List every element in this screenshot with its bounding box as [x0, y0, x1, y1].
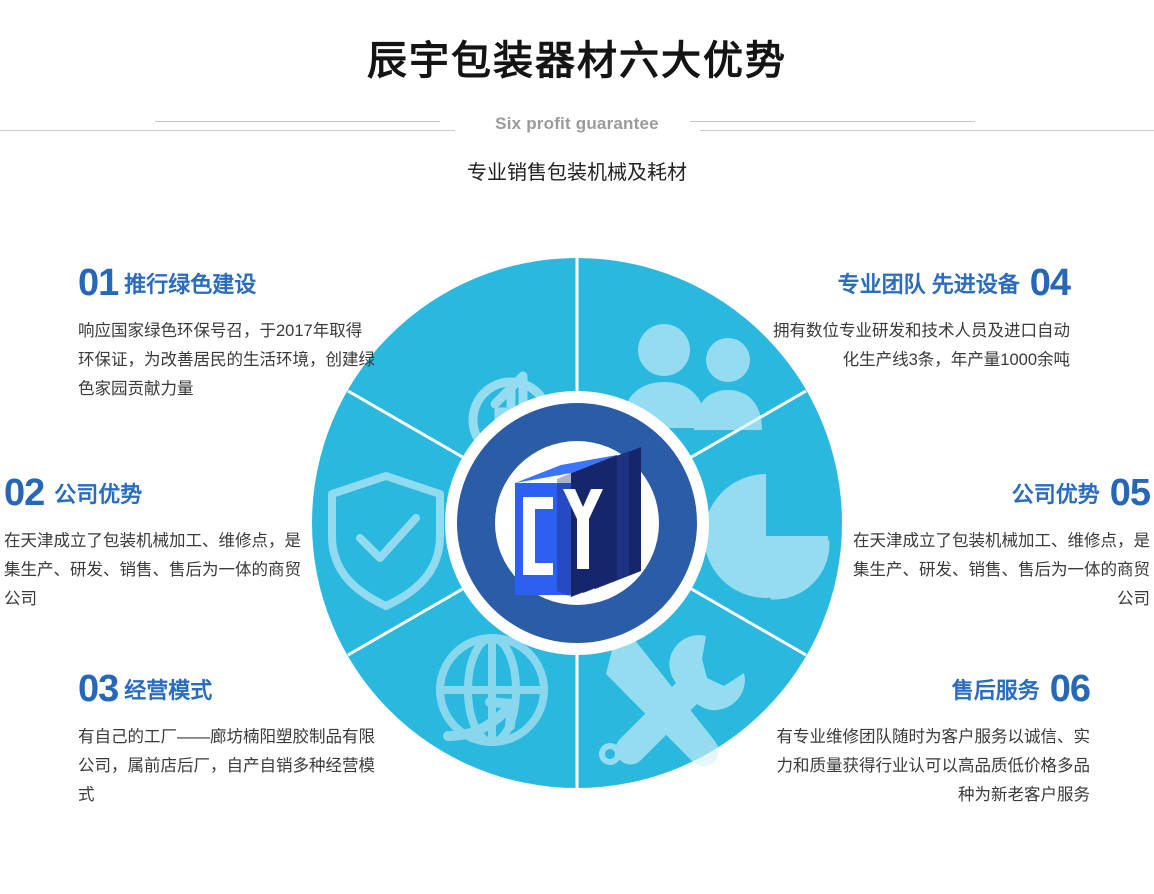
header: 辰宇包装器材六大优势 Six profit guarantee 专业销售包装机械…	[0, 0, 1154, 200]
feature-heading-05: 公司优势05	[850, 476, 1150, 515]
globe-arrow-icon	[440, 638, 544, 742]
feature-body-06: 有专业维修团队随时为客户服务以诚信、实力和质量获得行业认可以高品质低价格多品种为…	[770, 723, 1090, 810]
feature-heading-02: 02公司优势	[4, 476, 304, 515]
feature-heading-03: 03经营模式	[78, 672, 390, 711]
feature-label-05: 公司优势	[1012, 482, 1100, 507]
feature-block-01: 01推行绿色建设 响应国家绿色环保号召，于2017年取得环保证，为改善居民的生活…	[78, 266, 378, 404]
feature-heading-04: 专业团队 先进设备04	[770, 266, 1070, 305]
feature-heading-01: 01推行绿色建设	[78, 266, 378, 305]
feature-number-03: 03	[78, 668, 118, 710]
feature-number-02: 02	[4, 472, 44, 514]
feature-body-01: 响应国家绿色环保号召，于2017年取得环保证，为改善居民的生活环境，创建绿色家园…	[78, 317, 378, 404]
feature-number-05: 05	[1110, 472, 1150, 514]
feature-number-01: 01	[78, 262, 118, 304]
page-title: 辰宇包装器材六大优势	[0, 34, 1154, 88]
feature-block-03: 03经营模式 有自己的工厂——廊坊楠阳塑胶制品有限公司，属前店后厂，自产自销多种…	[78, 672, 390, 810]
subtitle-english: Six profit guarantee	[0, 114, 1154, 134]
feature-label-06: 售后服务	[952, 678, 1040, 703]
feature-body-03: 有自己的工厂——廊坊楠阳塑胶制品有限公司，属前店后厂，自产自销多种经营模式	[78, 723, 390, 810]
feature-block-05: 公司优势05 在天津成立了包装机械加工、维修点，是集生产、研发、销售、售后为一体…	[850, 476, 1150, 614]
feature-number-04: 04	[1030, 262, 1070, 304]
feature-label-04: 专业团队 先进设备	[838, 272, 1020, 297]
subtitle-english-text: Six profit guarantee	[481, 114, 673, 133]
feature-label-01: 推行绿色建设	[124, 272, 256, 297]
feature-heading-06: 售后服务06	[770, 672, 1090, 711]
feature-number-06: 06	[1050, 668, 1090, 710]
subtitle-divider: Six profit guarantee	[0, 108, 1154, 144]
feature-block-06: 售后服务06 有专业维修团队随时为客户服务以诚信、实力和质量获得行业认可以高品质…	[770, 672, 1090, 810]
feature-body-04: 拥有数位专业研发和技术人员及进口自动化生产线3条，年产量1000余吨	[770, 317, 1070, 375]
feature-body-05: 在天津成立了包装机械加工、维修点，是集生产、研发、销售、售后为一体的商贸公司	[850, 527, 1150, 614]
feature-block-02: 02公司优势 在天津成立了包装机械加工、维修点，是集生产、研发、销售、售后为一体…	[4, 476, 304, 614]
feature-block-04: 专业团队 先进设备04 拥有数位专业研发和技术人员及进口自动化生产线3条，年产量…	[770, 266, 1070, 375]
feature-body-02: 在天津成立了包装机械加工、维修点，是集生产、研发、销售、售后为一体的商贸公司	[4, 527, 304, 614]
feature-label-02: 公司优势	[54, 482, 142, 507]
feature-label-03: 经营模式	[124, 678, 212, 703]
subtitle-chinese: 专业销售包装机械及耗材	[0, 156, 1154, 185]
